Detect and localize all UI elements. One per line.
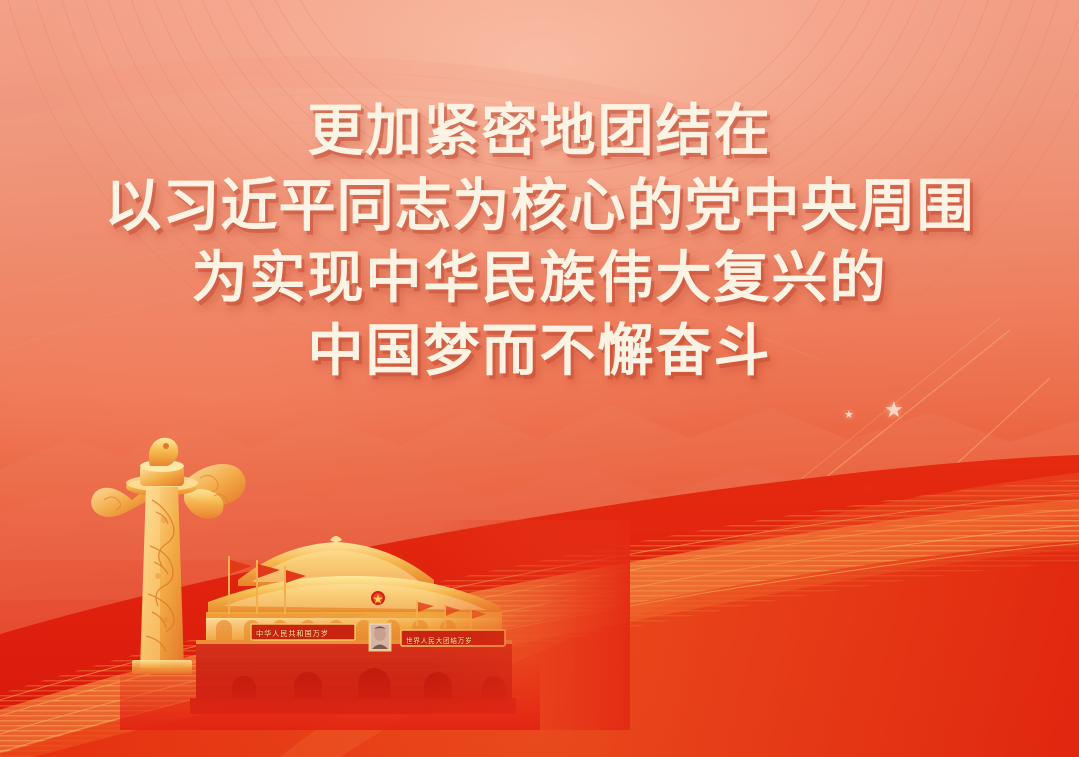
poster-title: 更加紧密地团结在 以习近平同志为核心的党中央周围 为实现中华民族伟大复兴的 中国… xyxy=(0,96,1079,388)
gate-arches xyxy=(232,668,506,700)
portrait-frame xyxy=(369,623,391,651)
star-icon-3: ★ xyxy=(859,480,876,499)
huabiao-column xyxy=(91,438,245,674)
plaque-right-text: 世界人民大团结万岁 xyxy=(406,635,473,645)
national-emblem-icon xyxy=(371,591,385,605)
title-line-1: 更加紧密地团结在 xyxy=(0,96,1079,169)
poster-canvas: ★ ★ ★ ★ ★ xyxy=(0,0,1079,757)
flag-group-right xyxy=(416,600,486,630)
star-icon-4: ★ xyxy=(752,535,765,549)
star-icon-5: ★ xyxy=(708,549,723,566)
star-icon-1: ★ xyxy=(884,399,904,421)
plaque-left-text: 中华人民共和国万岁 xyxy=(256,629,329,639)
flag-group-left xyxy=(228,556,306,614)
star-icon-2: ★ xyxy=(844,410,854,421)
tiananmen-gate xyxy=(190,536,516,714)
title-line-4: 中国梦而不懈奋斗 xyxy=(0,316,1079,389)
title-line-2: 以习近平同志为核心的党中央周围 xyxy=(0,169,1079,243)
title-line-3: 为实现中华民族伟大复兴的 xyxy=(0,243,1079,316)
